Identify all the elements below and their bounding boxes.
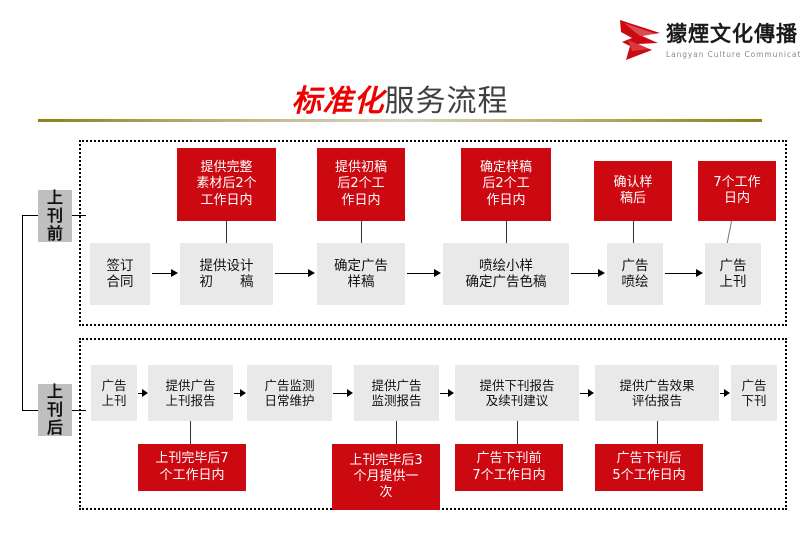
process-box[interactable]: 喷绘小样 确定广告色稿 [443, 243, 569, 305]
arrow-right-icon [333, 389, 354, 398]
note-connector [190, 421, 191, 444]
page-title-highlight: 标准化 [292, 84, 385, 119]
process-box[interactable]: 提供广告 上刊报告 [148, 365, 233, 421]
note-connector [633, 221, 634, 243]
note-box: 提供初稿 后2个工 作日内 [317, 148, 405, 221]
bracket-arm-top [22, 215, 38, 216]
arrow-right-icon [580, 389, 595, 398]
note-connector [226, 221, 227, 243]
arrow-right-icon [407, 269, 441, 278]
note-box: 广告下刊后 5个工作日内 [595, 444, 703, 491]
note-connector [517, 421, 518, 444]
arrow-right-icon [571, 269, 605, 278]
sidebar-item-before-publish[interactable]: 上刊前 [38, 190, 72, 242]
sidebar-item-after-publish[interactable]: 上刊后 [38, 384, 72, 436]
note-connector [657, 421, 658, 444]
bracket-vertical [22, 215, 23, 411]
arrow-right-icon [440, 389, 455, 398]
arrow-right-icon [275, 269, 315, 278]
process-box[interactable]: 广告 下刊 [731, 365, 777, 421]
page-title: 标准化服务流程 [0, 76, 800, 120]
note-box: 广告下刊前 7个工作日内 [455, 444, 563, 491]
sidebar-item-label: 上刊前 [47, 189, 63, 244]
note-box: 确定样稿 后2个工 作日内 [461, 148, 551, 221]
arrow-right-icon [152, 269, 178, 278]
sidebar-item-label: 上刊后 [47, 383, 63, 438]
red-arrow-bird-mark-icon [618, 16, 662, 62]
process-box[interactable]: 广告 喷绘 [607, 243, 663, 305]
arrow-right-icon [720, 389, 731, 398]
note-box: 确认样 稿后 [594, 161, 672, 221]
arrow-right-icon [665, 269, 703, 278]
note-connector [506, 221, 507, 243]
note-connector [396, 421, 397, 444]
process-box[interactable]: 广告 上刊 [91, 365, 137, 421]
note-box: 提供完整 素材后2个 工作日内 [177, 148, 276, 221]
process-box[interactable]: 签订 合同 [90, 243, 150, 305]
note-box: 7个工作 日内 [698, 161, 776, 221]
process-box[interactable]: 提供下刊报告 及续刊建议 [455, 365, 579, 421]
note-box: 上刊完毕后7 个工作日内 [138, 444, 246, 491]
process-box[interactable]: 提供广告 监测报告 [354, 365, 439, 421]
process-box[interactable]: 广告监测 日常维护 [247, 365, 332, 421]
title-divider [38, 119, 762, 122]
arrow-right-icon [138, 389, 148, 398]
process-box[interactable]: 广告 上刊 [705, 243, 761, 305]
page-title-rest: 服务流程 [385, 84, 509, 119]
process-box[interactable]: 确定广告 样稿 [317, 243, 405, 305]
process-box[interactable]: 提供设计 初 稿 [180, 243, 273, 305]
arrow-right-icon [234, 389, 247, 398]
logo-name-en: Langyan Culture Communication [666, 50, 798, 59]
slide-canvas: 獴煙文化傳播 Langyan Culture Communication 标准化… [0, 0, 800, 556]
note-connector [361, 221, 362, 243]
bracket-arm-bottom [22, 410, 38, 411]
logo-name-cn: 獴煙文化傳播 [666, 18, 794, 48]
process-box[interactable]: 提供广告效果 评估报告 [595, 365, 719, 421]
note-box: 上刊完毕后3 个月提供一 次 [332, 444, 440, 510]
company-logo: 獴煙文化傳播 Langyan Culture Communication [618, 14, 794, 72]
